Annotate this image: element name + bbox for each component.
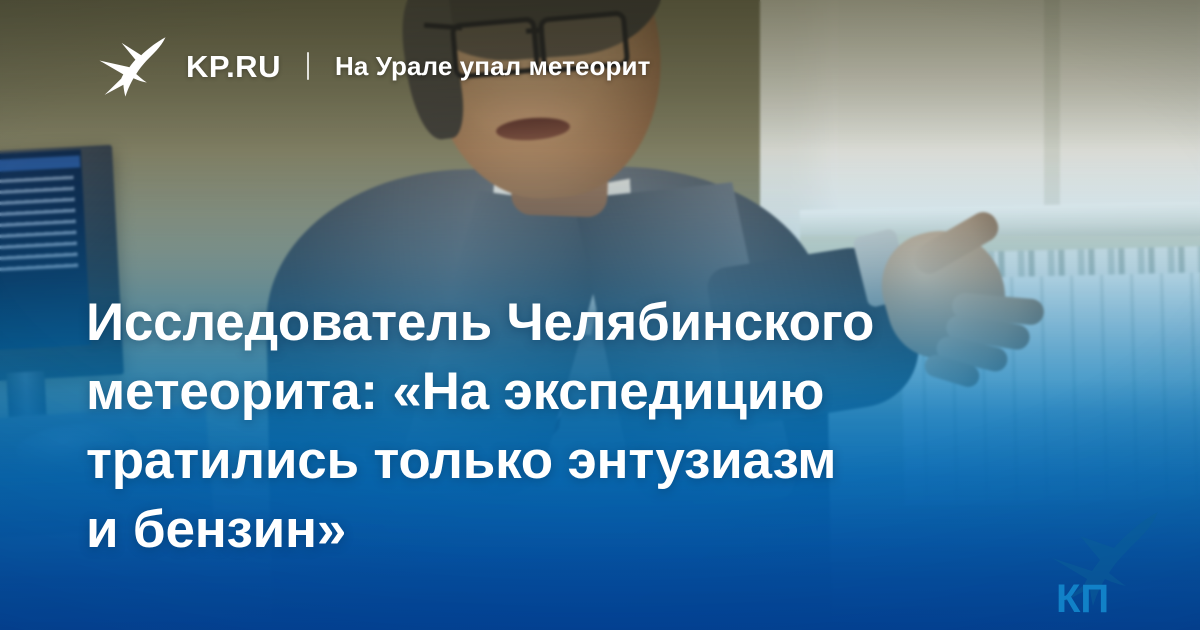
- card-header: KP.RU На Урале упал метеорит: [96, 32, 650, 100]
- kp-watermark-label: КП: [1056, 577, 1109, 618]
- share-card: KP.RU На Урале упал метеорит Исследовате…: [0, 0, 1200, 630]
- headline-line-1: Исследователь Челябинского: [86, 288, 986, 357]
- header-separator: [307, 52, 309, 80]
- page-title: Исследователь Челябинского метеорита: «Н…: [86, 288, 986, 564]
- brand-label[interactable]: KP.RU: [186, 51, 281, 82]
- headline-line-2: метеорита: «На экспедицию: [86, 357, 986, 426]
- kicker-label[interactable]: На Урале упал метеорит: [335, 53, 650, 79]
- headline-line-3: тратились только энтузиазм: [86, 426, 986, 495]
- headline-line-4: и бензин»: [86, 495, 986, 564]
- kp-watermark-graphic: КП: [1036, 506, 1168, 618]
- kp-watermark: КП: [1036, 506, 1168, 618]
- kp-swallow-bird-icon: [96, 33, 168, 99]
